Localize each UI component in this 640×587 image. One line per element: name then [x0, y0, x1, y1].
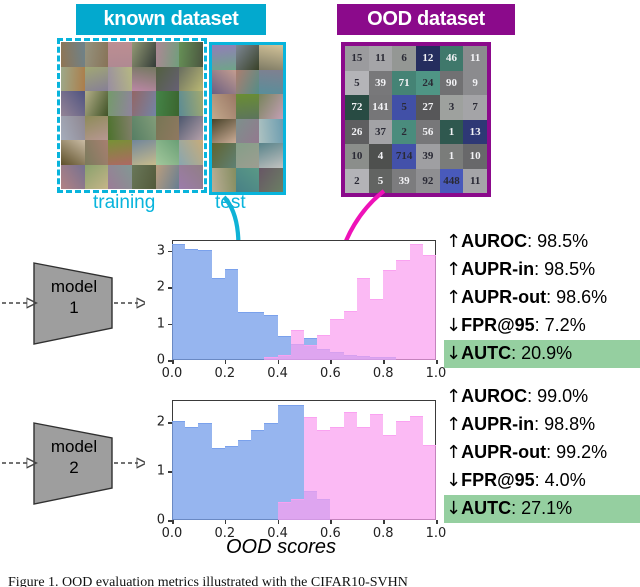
histogram-bar: [225, 446, 238, 520]
image-thumbnail: [259, 168, 283, 193]
image-thumbnail: [156, 116, 180, 141]
model-1-label: model 1: [36, 276, 112, 319]
test-image-grid: [209, 42, 286, 195]
histogram-bar: [251, 430, 264, 520]
ood-digit-thumbnail: 56: [416, 120, 440, 145]
histogram-bar: [357, 278, 370, 360]
image-thumbnail: [259, 45, 283, 70]
model-1-metrics: ↑AUROC: 98.5%↑AUPR-in: 98.5%↑AUPR-out: 9…: [444, 228, 640, 368]
histogram-bar: [357, 427, 370, 520]
y-axis-tick-mark: [168, 251, 172, 253]
histogram-bar: [317, 335, 330, 360]
ood-digit-thumbnail: 714: [392, 144, 416, 169]
image-thumbnail: [85, 140, 109, 165]
histogram-bar: [212, 448, 225, 520]
metric-row: ↑AUPR-out: 99.2%: [444, 439, 640, 467]
image-thumbnail: [156, 42, 180, 67]
ood-digit-thumbnail: 10: [463, 144, 487, 169]
image-thumbnail: [85, 42, 109, 67]
metric-value: : 99.2%: [546, 442, 607, 462]
metric-name: AUTC: [461, 498, 511, 518]
metric-name: AUPR-out: [461, 442, 546, 462]
image-thumbnail: [179, 165, 203, 190]
arrow-up-icon: ↑: [446, 442, 461, 463]
arrow-down-icon: ↓: [446, 470, 461, 491]
image-thumbnail: [259, 94, 283, 119]
ood-digit-thumbnail: 72: [345, 95, 369, 120]
model-2-index: 2: [69, 458, 78, 477]
histogram-bar: [185, 427, 198, 520]
metric-row: ↑AUPR-out: 98.6%: [444, 284, 640, 312]
x-axis-tick-mark: [436, 360, 438, 364]
image-thumbnail: [259, 143, 283, 168]
metric-row: ↓FPR@95: 7.2%: [444, 312, 640, 340]
model-2-metrics: ↑AUROC: 99.0%↑AUPR-in: 98.8%↑AUPR-out: 9…: [444, 383, 640, 523]
ood-digit-thumbnail: 15: [345, 46, 369, 71]
image-thumbnail: [132, 165, 156, 190]
image-thumbnail: [156, 140, 180, 165]
image-thumbnail: [108, 91, 132, 116]
metric-row: ↑AUPR-in: 98.8%: [444, 411, 640, 439]
histogram-bar: [225, 269, 238, 360]
metric-value: : 7.2%: [535, 315, 586, 335]
model-1-name: model: [51, 277, 97, 296]
ood-digit-thumbnail: 4: [369, 144, 393, 169]
image-thumbnail: [61, 140, 85, 165]
image-thumbnail: [259, 70, 283, 95]
image-thumbnail: [156, 67, 180, 92]
image-thumbnail: [85, 116, 109, 141]
ood-digit-thumbnail: 7: [463, 95, 487, 120]
image-thumbnail: [212, 45, 236, 70]
histogram-bar: [291, 499, 304, 520]
histogram-bar: [410, 416, 423, 520]
metric-value: : 98.5%: [534, 259, 595, 279]
metric-name: AUTC: [461, 343, 511, 363]
metric-value: : 27.1%: [511, 498, 572, 518]
histogram-bar: [185, 249, 198, 360]
metric-row: ↑AUROC: 98.5%: [444, 228, 640, 256]
metric-name: FPR@95: [461, 315, 535, 335]
metric-value: : 99.0%: [527, 386, 588, 406]
image-thumbnail: [236, 143, 260, 168]
arrow-up-icon: ↑: [446, 259, 461, 280]
image-thumbnail: [108, 140, 132, 165]
ood-digit-thumbnail: 1: [440, 144, 464, 169]
ood-digit-thumbnail: 92: [416, 169, 440, 194]
arrow-down-icon: ↓: [446, 343, 461, 364]
figure-caption: Figure 1. OOD evaluation metrics illustr…: [8, 575, 632, 587]
arrow-up-icon: ↑: [446, 386, 461, 407]
arrow-down-icon: ↓: [446, 498, 461, 519]
image-thumbnail: [212, 143, 236, 168]
histogram-bar: [238, 312, 251, 360]
image-thumbnail: [132, 91, 156, 116]
metric-row: ↑AUROC: 99.0%: [444, 383, 640, 411]
y-axis-tick-mark: [168, 324, 172, 326]
ood-digit-thumbnail: 3: [440, 95, 464, 120]
image-thumbnail: [259, 119, 283, 144]
x-axis-tick-mark: [172, 520, 174, 524]
x-axis-tick-mark: [225, 360, 227, 364]
x-axis-title: OOD scores: [226, 536, 336, 559]
ood-digit-thumbnail: 39: [369, 71, 393, 96]
metric-name: AUROC: [461, 231, 527, 251]
x-axis-tick-mark: [225, 520, 227, 524]
image-thumbnail: [61, 42, 85, 67]
histogram-bar: [423, 445, 436, 520]
histogram-bar: [396, 260, 409, 360]
ood-digit-thumbnail: 2: [392, 120, 416, 145]
histogram-bar: [317, 430, 330, 520]
image-thumbnail: [132, 116, 156, 141]
histogram-bar: [396, 421, 409, 520]
histogram-bar: [264, 315, 277, 360]
image-thumbnail: [179, 140, 203, 165]
ood-digit-thumbnail: 24: [416, 71, 440, 96]
model-2-bars: [172, 400, 436, 520]
histogram-bar: [410, 244, 423, 360]
x-axis-tick-mark: [383, 360, 385, 364]
image-thumbnail: [108, 165, 132, 190]
ood-digit-thumbnail: 5: [345, 71, 369, 96]
metric-value: : 98.8%: [534, 414, 595, 434]
histogram-bar: [278, 502, 291, 520]
image-thumbnail: [108, 116, 132, 141]
ood-digit-thumbnail: 39: [416, 144, 440, 169]
histogram-bar: [370, 414, 383, 520]
model-1-histogram-panel: 01230.00.20.40.60.81.0: [172, 240, 436, 360]
ood-digit-thumbnail: 141: [369, 95, 393, 120]
image-thumbnail: [108, 67, 132, 92]
model-2-label: model 2: [36, 436, 112, 479]
histogram-bar: [198, 423, 211, 520]
metric-name: FPR@95: [461, 470, 535, 490]
metric-name: AUPR-in: [461, 414, 534, 434]
training-label: training: [93, 192, 155, 214]
y-axis-tick-mark: [168, 422, 172, 424]
histogram-bar: [344, 412, 357, 520]
ood-digit-thumbnail: 27: [416, 95, 440, 120]
histogram-bar: [304, 345, 317, 360]
ood-digit-thumbnail: 11: [463, 46, 487, 71]
histogram-bar: [172, 421, 185, 520]
metric-name: AUROC: [461, 386, 527, 406]
image-thumbnail: [236, 70, 260, 95]
ood-digit-thumbnail: 26: [345, 120, 369, 145]
metric-value: : 4.0%: [535, 470, 586, 490]
arrow-down-icon: ↓: [446, 315, 461, 336]
histogram-bar: [264, 423, 277, 520]
image-thumbnail: [85, 165, 109, 190]
image-thumbnail: [179, 67, 203, 92]
known-dataset-banner: known dataset: [76, 4, 266, 35]
image-thumbnail: [61, 116, 85, 141]
image-thumbnail: [85, 91, 109, 116]
image-thumbnail: [61, 67, 85, 92]
model-1-index: 1: [69, 298, 78, 317]
metric-value: : 98.6%: [546, 287, 607, 307]
ood-digit-thumbnail: 10: [345, 144, 369, 169]
image-thumbnail: [212, 70, 236, 95]
metric-row-highlighted: ↓AUTC: 27.1%: [444, 495, 640, 523]
x-axis-tick-mark: [278, 520, 280, 524]
ood-digit-thumbnail: 71: [392, 71, 416, 96]
image-thumbnail: [85, 67, 109, 92]
metric-value: : 98.5%: [527, 231, 588, 251]
image-thumbnail: [179, 116, 203, 141]
ood-digit-thumbnail: 46: [440, 46, 464, 71]
arrow-up-icon: ↑: [446, 414, 461, 435]
image-thumbnail: [236, 45, 260, 70]
ood-digit-thumbnail: 37: [369, 120, 393, 145]
training-image-grid: [61, 42, 203, 189]
ood-digit-thumbnail: 11: [463, 169, 487, 194]
histogram-bar: [212, 278, 225, 360]
image-thumbnail: [236, 119, 260, 144]
y-axis-tick-mark: [168, 471, 172, 473]
metric-row-highlighted: ↓AUTC: 20.9%: [444, 340, 640, 368]
image-thumbnail: [179, 91, 203, 116]
image-thumbnail: [212, 94, 236, 119]
histogram-bar: [198, 250, 211, 360]
histogram-bar: [304, 417, 317, 520]
histogram-bar: [423, 255, 436, 360]
histogram-bar: [238, 440, 251, 520]
image-thumbnail: [132, 140, 156, 165]
ood-digit-thumbnail: 12: [416, 46, 440, 71]
arrow-up-icon: ↑: [446, 287, 461, 308]
model-2-histogram-panel: 0120.00.20.40.60.81.0: [172, 400, 436, 520]
image-thumbnail: [236, 168, 260, 193]
metric-name: AUPR-in: [461, 259, 534, 279]
x-axis-tick-mark: [278, 360, 280, 364]
image-thumbnail: [61, 91, 85, 116]
image-thumbnail: [108, 42, 132, 67]
metric-row: ↓FPR@95: 4.0%: [444, 467, 640, 495]
metric-row: ↑AUPR-in: 98.5%: [444, 256, 640, 284]
image-thumbnail: [212, 119, 236, 144]
ood-digit-thumbnail: 13: [463, 120, 487, 145]
model-2-block: model 2: [0, 410, 145, 535]
x-axis-tick-mark: [436, 520, 438, 524]
ood-digit-thumbnail: 11: [369, 46, 393, 71]
histogram-bar: [383, 435, 396, 520]
image-thumbnail: [236, 94, 260, 119]
model-1-bars: [172, 240, 436, 360]
ood-digit-thumbnail: 6: [392, 46, 416, 71]
ood-digit-thumbnail: 90: [440, 71, 464, 96]
histogram-bar: [330, 319, 343, 360]
image-thumbnail: [179, 42, 203, 67]
model-2-name: model: [51, 437, 97, 456]
image-thumbnail: [156, 165, 180, 190]
image-thumbnail: [212, 168, 236, 193]
ood-digit-thumbnail: 5: [392, 95, 416, 120]
image-thumbnail: [61, 165, 85, 190]
metric-name: AUPR-out: [461, 287, 546, 307]
model-1-block: model 1: [0, 250, 145, 375]
image-thumbnail: [156, 91, 180, 116]
histogram-bar: [383, 270, 396, 360]
arrow-up-icon: ↑: [446, 231, 461, 252]
histogram-bar: [251, 312, 264, 360]
ood-digit-thumbnail: 9: [463, 71, 487, 96]
x-axis-tick-mark: [172, 360, 174, 364]
ood-digit-thumbnail: 1: [440, 120, 464, 145]
x-axis-tick-mark: [330, 520, 332, 524]
ood-digit-thumbnail: 448: [440, 169, 464, 194]
histogram-bar: [291, 330, 304, 360]
histogram-bar: [370, 299, 383, 360]
histogram-bar: [330, 427, 343, 520]
y-axis-tick-mark: [168, 287, 172, 289]
x-axis-tick-mark: [383, 520, 385, 524]
image-thumbnail: [132, 67, 156, 92]
histogram-bar: [172, 244, 185, 360]
metric-value: : 20.9%: [511, 343, 572, 363]
histogram-bar: [344, 311, 357, 360]
image-thumbnail: [132, 42, 156, 67]
ood-image-grid: 1511612461153971249097214152737263725611…: [341, 42, 491, 197]
x-axis-tick-mark: [330, 360, 332, 364]
ood-dataset-banner: OOD dataset: [337, 4, 515, 35]
